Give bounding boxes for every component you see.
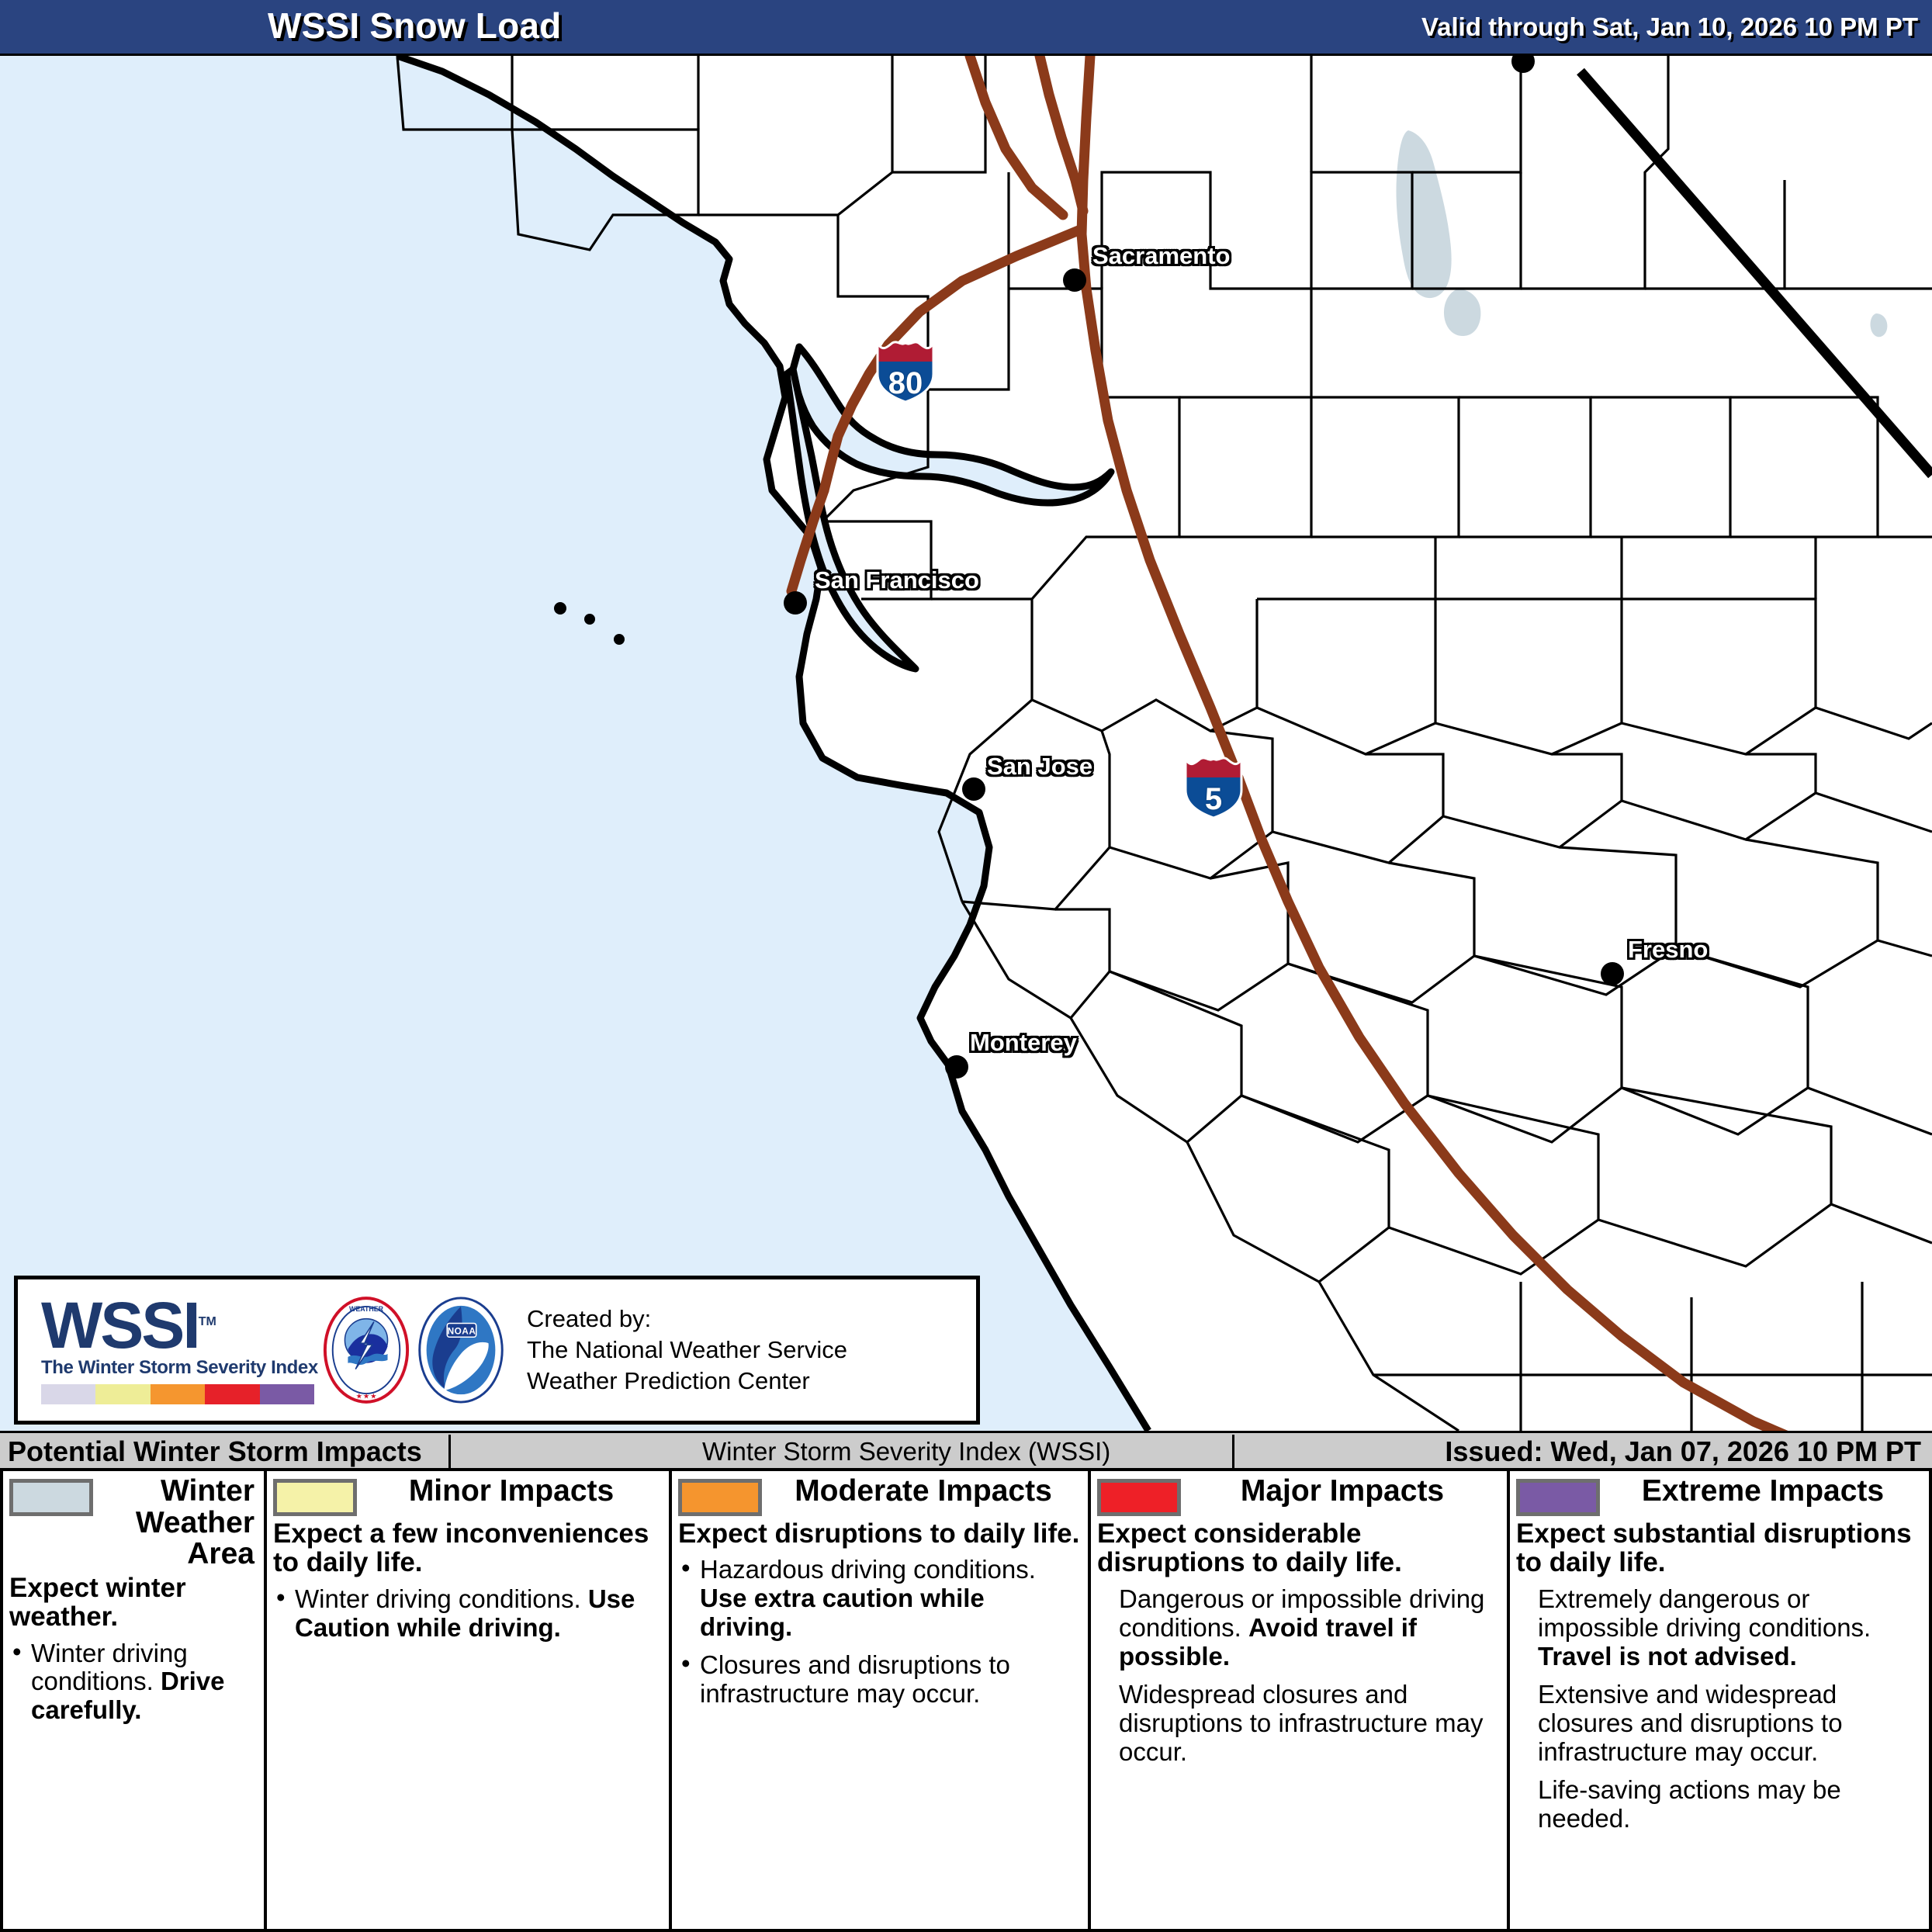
colorbar-minor [95, 1384, 150, 1404]
wssi-tagline: The Winter Storm Severity Index [41, 1357, 320, 1379]
bullet-plain: Extremely dangerous or impossible drivin… [1538, 1584, 1871, 1642]
status-bar: Potential Winter Storm Impacts Winter St… [0, 1431, 1932, 1471]
legend-swatch-moderate-impacts [678, 1479, 762, 1516]
city-label-san-francisco: San Francisco [815, 566, 979, 594]
interstate-80-number: 80 [875, 366, 936, 401]
legend-lead-moderate-impacts: Expect disruptions to daily life. [678, 1519, 1082, 1548]
city-label-monterey: Monterey [970, 1029, 1077, 1057]
island-farallon-1 [554, 602, 566, 615]
legend-bullets: Winter driving conditions. Use Caution w… [273, 1585, 663, 1643]
bullet-plain: Widespread closures and disruptions to i… [1119, 1680, 1484, 1766]
noaa-seal: NOAA [412, 1296, 510, 1404]
legend-column-minor-impacts[interactable]: Minor Impacts Expect a few inconvenience… [267, 1471, 672, 1929]
impact-legend: Winter Weather Area Expect winter weathe… [0, 1471, 1932, 1932]
wssi-wordmark: WSSITM [41, 1296, 320, 1356]
bullet-plain: Winter driving conditions. [295, 1584, 588, 1613]
legend-swatch-extreme-impacts [1516, 1479, 1600, 1516]
legend-bullet: Winter driving conditions. Use Caution w… [273, 1585, 663, 1643]
legend-bullet: Closures and disruptions to infrastructu… [678, 1651, 1082, 1709]
bullet-plain: Closures and disruptions to infrastructu… [700, 1650, 1010, 1708]
legend-column-winter-weather-area[interactable]: Winter Weather Area Expect winter weathe… [0, 1471, 267, 1929]
legend-bullet: Widespread closures and disruptions to i… [1097, 1681, 1501, 1767]
wssi-snow-load-page: WSSI Snow Load Valid through Sat, Jan 10… [0, 0, 1932, 1932]
island-farallon-2 [584, 614, 595, 625]
legend-bullet: Extremely dangerous or impossible drivin… [1516, 1585, 1923, 1671]
created-by-agency: The National Weather Service [527, 1335, 847, 1366]
created-by-center: Weather Prediction Center [527, 1366, 847, 1397]
colorbar-extreme [260, 1384, 314, 1404]
interstate-5-number: 5 [1183, 782, 1244, 817]
legend-swatch-minor-impacts [273, 1479, 357, 1516]
interstate-80-shield: 80 [875, 338, 936, 403]
national-weather-service-seal: WEATHER ★ ★ ★ [320, 1296, 412, 1404]
legend-bullets: Dangerous or impossible driving conditio… [1097, 1585, 1501, 1767]
legend-header: Extreme Impacts [1516, 1476, 1923, 1516]
status-issued: Issued: Wed, Jan 07, 2026 10 PM PT [1445, 1435, 1921, 1468]
legend-lead-winter-weather-area: Expect winter weather. [9, 1574, 258, 1632]
legend-column-moderate-impacts[interactable]: Moderate Impacts Expect disruptions to d… [672, 1471, 1091, 1929]
bullet-plain: Extensive and widespread closures and di… [1538, 1680, 1843, 1766]
wssi-severity-colorbar [41, 1384, 314, 1404]
svg-text:NOAA: NOAA [448, 1325, 476, 1336]
legend-bullet: Dangerous or impossible driving conditio… [1097, 1585, 1501, 1671]
bullet-bold: Travel is not advised. [1538, 1642, 1797, 1671]
legend-swatch-winter-weather-area [9, 1479, 93, 1516]
legend-title-moderate-impacts: Moderate Impacts [762, 1476, 1082, 1508]
legend-title-extreme-impacts: Extreme Impacts [1600, 1476, 1923, 1508]
city-dot-monterey [945, 1055, 968, 1079]
legend-bullets: Extremely dangerous or impossible drivin… [1516, 1585, 1923, 1833]
city-dot-san-francisco [784, 591, 807, 615]
colorbar-winter-weather [41, 1384, 95, 1404]
legend-bullet: Life-saving actions may be needed. [1516, 1776, 1923, 1833]
island-farallon-3 [614, 634, 625, 645]
interstate-5-shield: 5 [1183, 754, 1244, 819]
legend-lead-minor-impacts: Expect a few inconveniences to daily lif… [273, 1519, 663, 1577]
wssi-wordmark-text: WSSI [41, 1289, 199, 1362]
city-dot-sacramento [1063, 268, 1086, 292]
city-dot-fresno [1601, 962, 1624, 985]
colorbar-moderate [151, 1384, 205, 1404]
legend-title-winter-weather-area: Winter Weather Area [93, 1476, 258, 1570]
wssi-logo: WSSITM The Winter Storm Severity Index [18, 1296, 320, 1404]
legend-column-extreme-impacts[interactable]: Extreme Impacts Expect substantial disru… [1510, 1471, 1932, 1929]
legend-bullet: Winter driving conditions. Drive careful… [9, 1639, 258, 1726]
status-divider-2 [1232, 1435, 1234, 1470]
page-header: WSSI Snow Load Valid through Sat, Jan 10… [0, 0, 1932, 56]
legend-lead-extreme-impacts: Expect substantial disruptions to daily … [1516, 1519, 1923, 1577]
legend-bullets: Hazardous driving conditions. Use extra … [678, 1556, 1082, 1709]
legend-column-major-impacts[interactable]: Major Impacts Expect considerable disrup… [1091, 1471, 1510, 1929]
created-by-label: Created by: [527, 1304, 847, 1335]
map-geography [0, 56, 1932, 1431]
legend-lead-major-impacts: Expect considerable disruptions to daily… [1097, 1519, 1501, 1577]
svg-text:WEATHER: WEATHER [349, 1305, 384, 1313]
bullet-bold: Use extra caution while driving. [700, 1584, 985, 1641]
city-label-fresno: Fresno [1628, 936, 1708, 964]
legend-title-minor-impacts: Minor Impacts [357, 1476, 663, 1508]
legend-bullet: Hazardous driving conditions. Use extra … [678, 1556, 1082, 1642]
colorbar-major [205, 1384, 259, 1404]
legend-bullets: Winter driving conditions. Drive careful… [9, 1639, 258, 1726]
city-dot-san-jose [962, 777, 985, 801]
bullet-plain: Hazardous driving conditions. [700, 1555, 1036, 1584]
attribution-box: WSSITM The Winter Storm Severity Index W… [14, 1276, 980, 1425]
created-by-block: Created by: The National Weather Service… [527, 1304, 847, 1396]
status-divider-1 [448, 1435, 451, 1470]
legend-header: Major Impacts [1097, 1476, 1501, 1516]
city-label-san-jose: San Jose [987, 753, 1092, 781]
legend-header: Minor Impacts [273, 1476, 663, 1516]
page-title: WSSI Snow Load [268, 5, 561, 47]
legend-swatch-major-impacts [1097, 1479, 1181, 1516]
map-canvas[interactable]: 80 5 Sacramento San Francisco San Jose F… [0, 56, 1932, 1431]
legend-title-major-impacts: Major Impacts [1181, 1476, 1501, 1508]
svg-text:★ ★ ★: ★ ★ ★ [356, 1393, 376, 1400]
legend-header: Moderate Impacts [678, 1476, 1082, 1516]
city-label-sacramento: Sacramento [1092, 242, 1230, 270]
status-wssi-name: Winter Storm Severity Index (WSSI) [702, 1437, 1110, 1466]
bullet-plain: Life-saving actions may be needed. [1538, 1775, 1841, 1833]
wssi-trademark: TM [199, 1315, 216, 1328]
legend-bullet: Extensive and widespread closures and di… [1516, 1681, 1923, 1767]
status-potential-impacts: Potential Winter Storm Impacts [8, 1435, 422, 1468]
valid-through-text: Valid through Sat, Jan 10, 2026 10 PM PT [1421, 12, 1918, 42]
legend-header: Winter Weather Area [9, 1476, 258, 1570]
